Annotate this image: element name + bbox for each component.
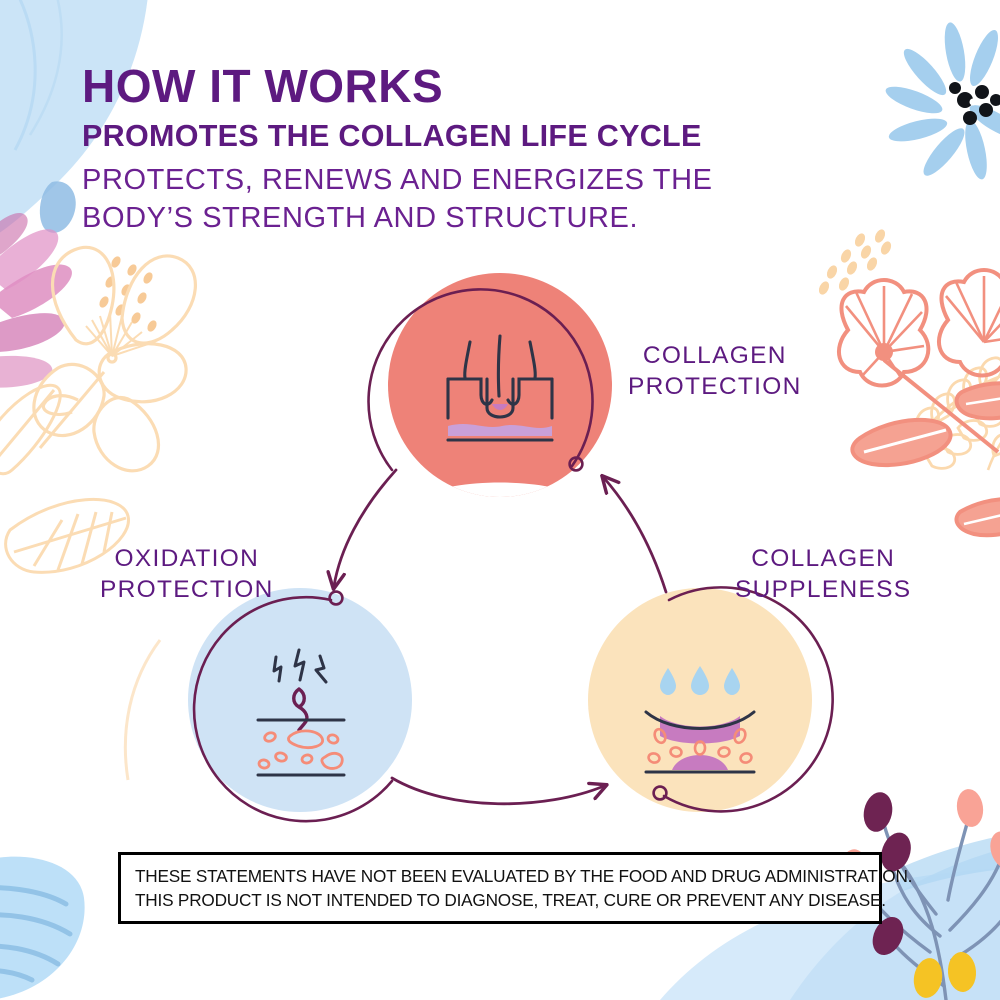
label-line-2: PROTECTION xyxy=(628,371,802,402)
label-line-2: SUPPLENESS xyxy=(735,574,911,605)
page-subtitle: PROMOTES THE COLLAGEN LIFE CYCLE xyxy=(82,120,713,154)
fda-disclaimer-box: THESE STATEMENTS HAVE NOT BEEN EVALUATED… xyxy=(118,852,882,924)
disclaimer-line-1: THESE STATEMENTS HAVE NOT BEEN EVALUATED… xyxy=(135,864,865,888)
arrow-top-to-oxidation xyxy=(334,470,396,586)
label-line-1: OXIDATION xyxy=(100,543,274,574)
label-line-1: COLLAGEN xyxy=(735,543,911,574)
arrow-suppleness-to-top xyxy=(604,478,666,592)
cycle-node-collagen-suppleness[interactable] xyxy=(580,587,833,812)
node-label-oxidation-protection: OXIDATION PROTECTION xyxy=(100,543,274,606)
heading-block: HOW IT WORKS PROMOTES THE COLLAGEN LIFE … xyxy=(82,62,713,237)
node-label-collagen-protection: COLLAGEN PROTECTION xyxy=(628,340,802,403)
arrow-oxidation-to-suppleness xyxy=(392,778,604,804)
page-body-line-1: PROTECTS, RENEWS AND ENERGIZES THE xyxy=(82,163,713,199)
label-line-1: COLLAGEN xyxy=(628,340,802,371)
page-body-line-2: BODY’S STRENGTH AND STRUCTURE. xyxy=(82,201,713,237)
page-title: HOW IT WORKS xyxy=(82,62,713,111)
disclaimer-line-2: THIS PRODUCT IS NOT INTENDED TO DIAGNOSE… xyxy=(135,888,865,912)
cycle-node-oxidation-protection[interactable] xyxy=(188,588,420,821)
node-circle xyxy=(188,588,412,812)
node-label-collagen-suppleness: COLLAGEN SUPPLENESS xyxy=(735,543,911,606)
cycle-node-collagen-protection[interactable] xyxy=(369,273,620,534)
label-line-2: PROTECTION xyxy=(100,574,274,605)
node-circle xyxy=(588,588,812,812)
